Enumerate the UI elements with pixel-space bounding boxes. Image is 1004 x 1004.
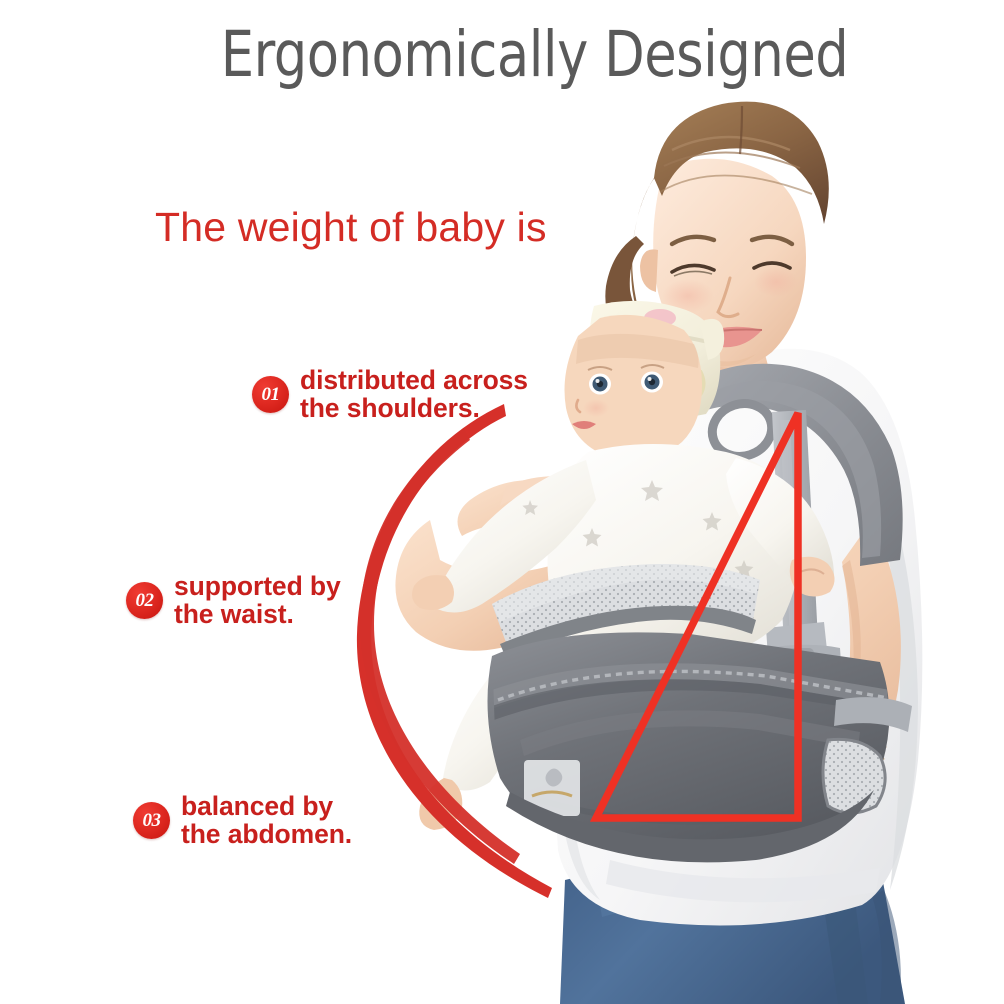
callout-badge-03: 03: [133, 802, 170, 839]
callout-text-01: distributed across the shoulders.: [300, 367, 528, 422]
callout-text-02: supported by the waist.: [174, 573, 341, 628]
support-arc-body: [360, 428, 520, 864]
callout-01[interactable]: 01 distributed across the shoulders.: [252, 367, 528, 422]
callout-badge-01: 01: [252, 376, 289, 413]
poster-canvas: Ergonomically Designed The weight of bab…: [0, 0, 1004, 1004]
callout-line-2: the waist.: [174, 601, 341, 629]
callout-line-2: the abdomen.: [181, 821, 352, 849]
callout-02[interactable]: 02 supported by the waist.: [126, 573, 341, 628]
callout-line-1: distributed across: [300, 365, 528, 395]
weight-distribution-triangle: [596, 413, 798, 818]
annotation-overlay: [0, 0, 1004, 1004]
callout-text-03: balanced by the abdomen.: [181, 793, 352, 848]
callout-line-1: supported by: [174, 571, 341, 601]
callout-badge-02: 02: [126, 582, 163, 619]
callout-line-2: the shoulders.: [300, 395, 528, 423]
callout-03[interactable]: 03 balanced by the abdomen.: [133, 793, 352, 848]
callout-line-1: balanced by: [181, 791, 333, 821]
support-arc: [357, 404, 552, 898]
